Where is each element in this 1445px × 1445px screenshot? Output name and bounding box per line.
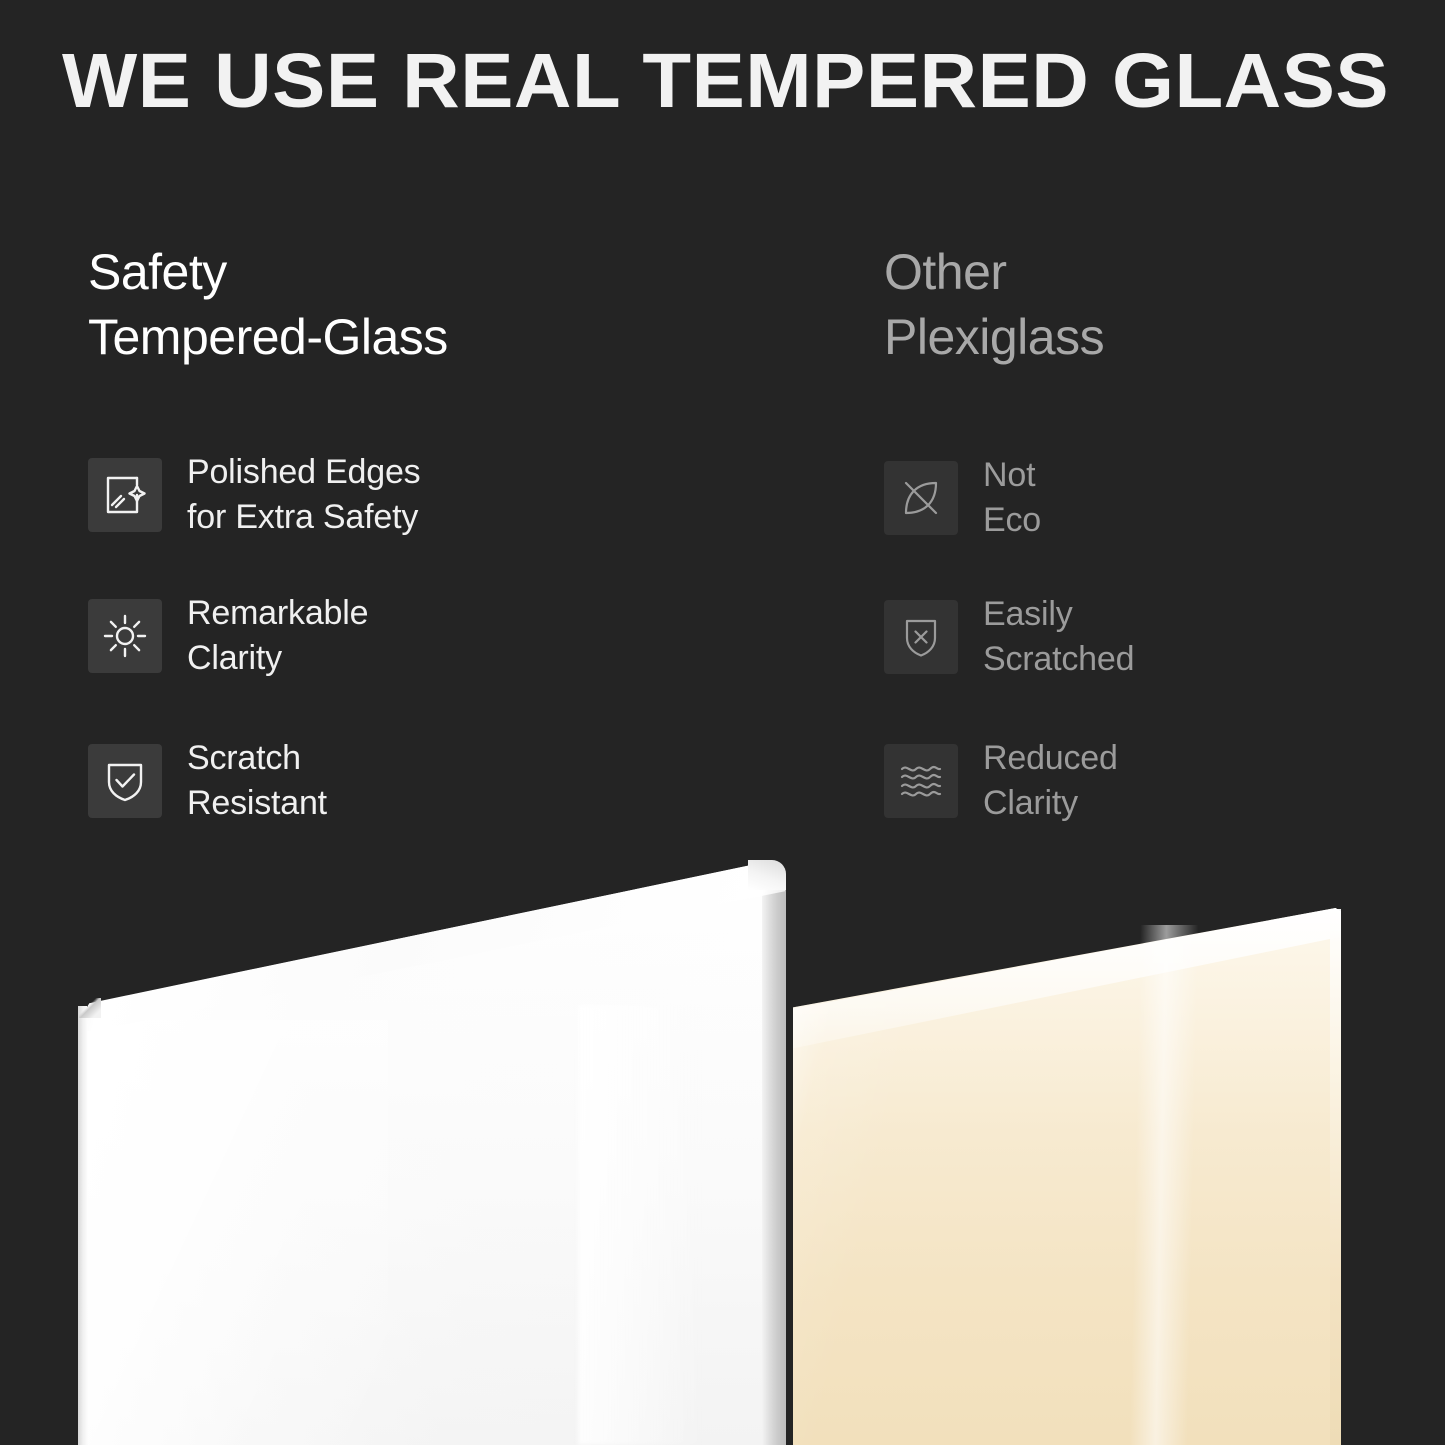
feature-row: Polished Edges for Extra Safety [88, 450, 420, 540]
shield-check-icon [88, 744, 162, 818]
wavy-lines-icon [884, 744, 958, 818]
sun-brightness-icon [88, 599, 162, 673]
shield-x-icon [884, 600, 958, 674]
feature-label: Polished Edges for Extra Safety [187, 450, 420, 540]
column-heading-other-plexiglass: Other Plexiglass [884, 240, 1104, 370]
column-heading-safety-tempered-glass: Safety Tempered-Glass [88, 240, 448, 370]
leaf-crossed-out-icon [884, 461, 958, 535]
feature-label: Not Eco [983, 453, 1041, 543]
feature-row: Reduced Clarity [884, 736, 1118, 826]
product-comparison-infographic: WE USE REAL TEMPERED GLASS Safety Temper… [0, 0, 1445, 1445]
plexiglass-panel-sheen [1130, 925, 1199, 1445]
page-title: WE USE REAL TEMPERED GLASS [62, 38, 1439, 124]
feature-label: Remarkable Clarity [187, 591, 368, 681]
feature-label: Reduced Clarity [983, 736, 1118, 826]
glass-panels-image [0, 830, 1445, 1445]
tempered-glass-panel-corner-left [79, 998, 101, 1018]
feature-row: Remarkable Clarity [88, 591, 368, 681]
feature-label: Easily Scratched [983, 592, 1134, 682]
tempered-glass-panel-highlight [578, 1005, 708, 1445]
tempered-glass-panel-left-edge [78, 1006, 87, 1445]
polished-glass-pane-icon [88, 458, 162, 532]
tempered-glass-panel-reflection [88, 1020, 388, 1445]
feature-label: Scratch Resistant [187, 736, 327, 826]
tempered-glass-panel-corner-right [748, 860, 786, 890]
feature-row: Easily Scratched [884, 592, 1134, 682]
tempered-glass-panel-right-edge [762, 875, 786, 1445]
feature-row: Not Eco [884, 453, 1041, 543]
feature-row: Scratch Resistant [88, 736, 327, 826]
plexiglass-panel-right-edge [1330, 909, 1341, 1445]
